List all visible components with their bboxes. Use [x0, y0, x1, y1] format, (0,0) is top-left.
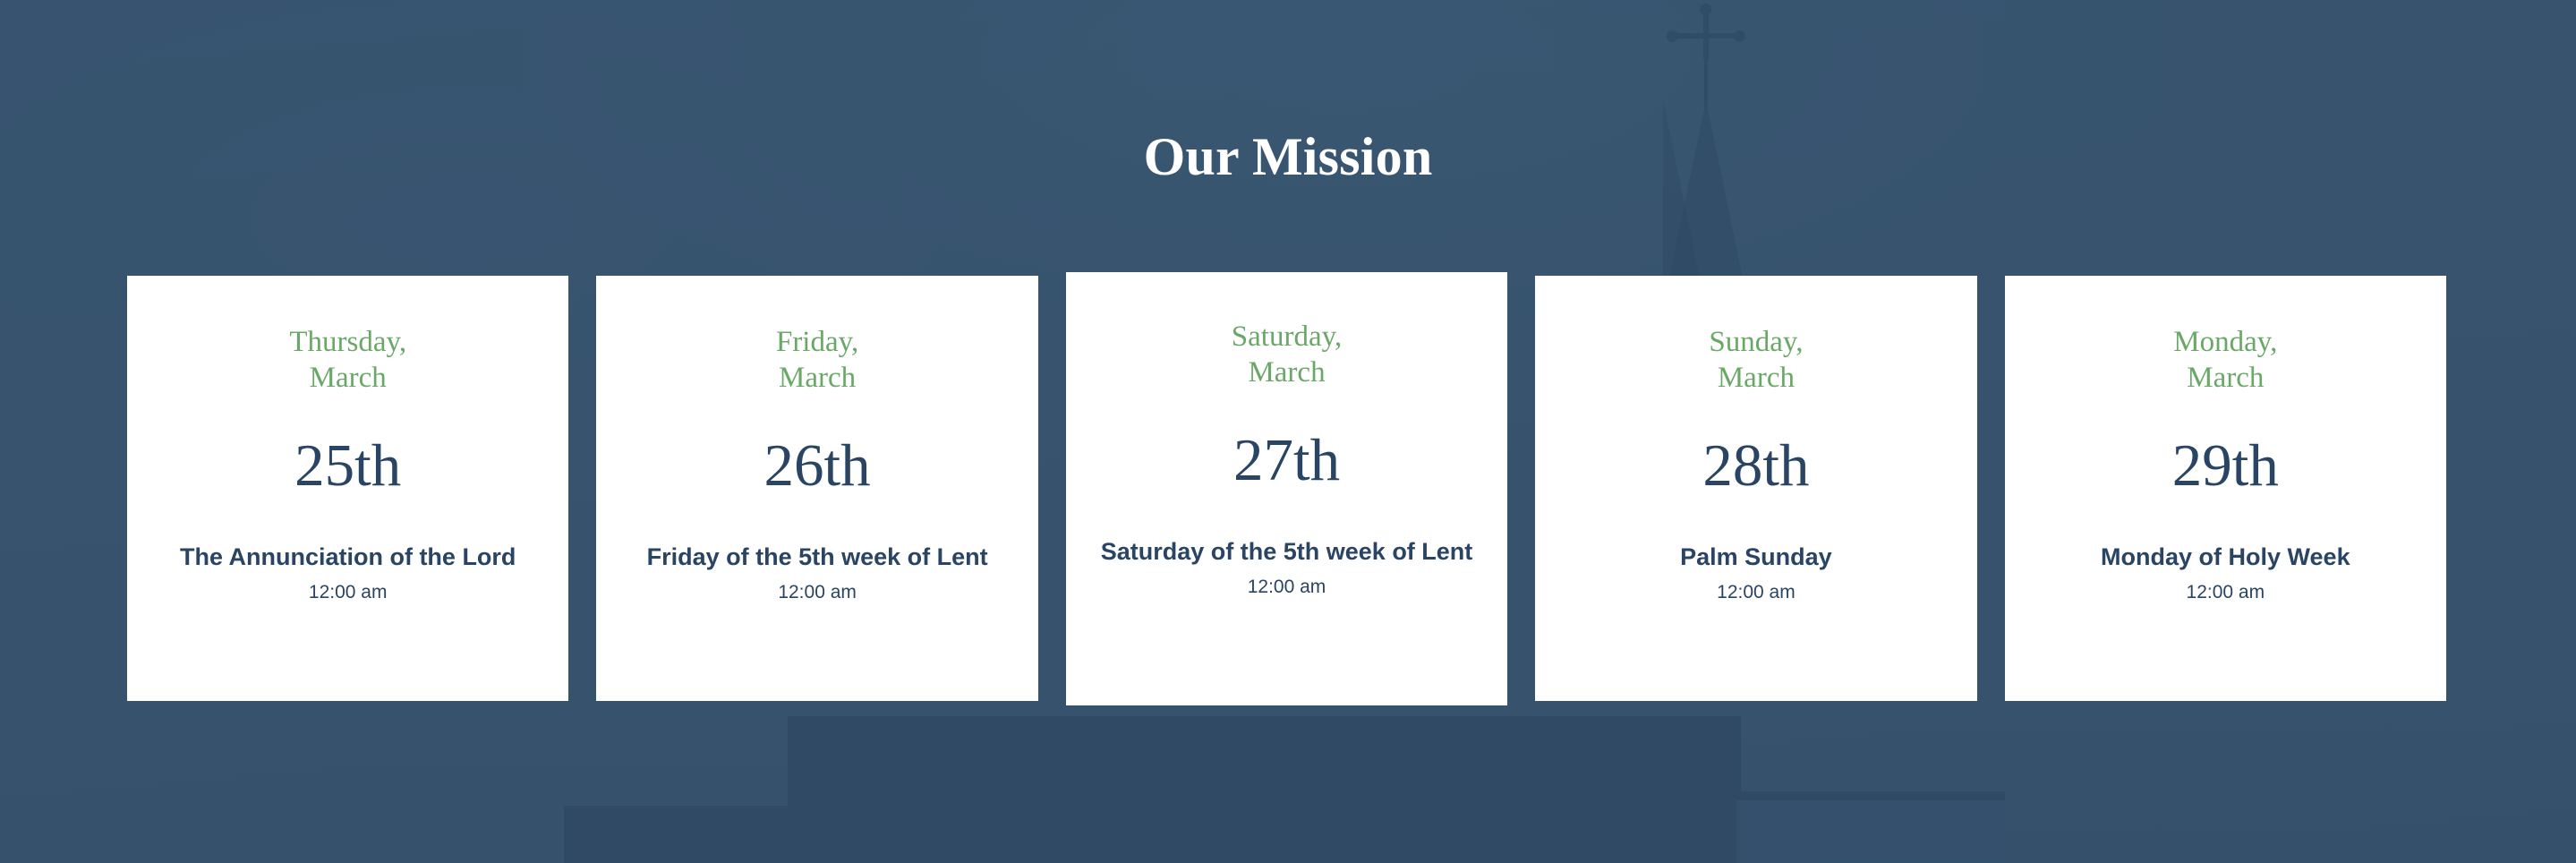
event-dateline: Saturday, March: [1089, 319, 1484, 391]
event-title: Monday of Holy Week: [2028, 542, 2423, 573]
event-weekday: Friday,: [776, 326, 858, 358]
event-title: Friday of the 5th week of Lent: [619, 542, 1014, 573]
event-month: March: [1248, 356, 1325, 389]
event-dateline: Friday, March: [619, 324, 1014, 397]
event-title: Saturday of the 5th week of Lent: [1089, 536, 1484, 568]
event-month: March: [779, 362, 856, 394]
event-time: 12:00 am: [1558, 580, 1953, 604]
event-month: March: [1718, 362, 1795, 394]
event-dateline: Sunday, March: [1558, 324, 1953, 397]
event-day-number: 28th: [1558, 434, 1953, 497]
event-card[interactable]: Monday, March 29th Monday of Holy Week 1…: [2005, 276, 2446, 701]
page-title: Our Mission: [0, 127, 2576, 186]
event-month: March: [310, 362, 387, 394]
events-list: Thursday, March 25th The Annunciation of…: [127, 276, 2446, 705]
event-card[interactable]: Sunday, March 28th Palm Sunday 12:00 am: [1535, 276, 1976, 701]
event-title: Palm Sunday: [1558, 542, 1953, 573]
event-dateline: Thursday, March: [150, 324, 545, 397]
event-weekday: Thursday,: [289, 326, 406, 358]
event-card[interactable]: Saturday, March 27th Saturday of the 5th…: [1066, 272, 1507, 705]
event-day-number: 25th: [150, 434, 545, 497]
event-day-number: 29th: [2028, 434, 2423, 497]
event-weekday: Saturday,: [1232, 320, 1342, 353]
event-time: 12:00 am: [1089, 575, 1484, 599]
event-day-number: 27th: [1089, 429, 1484, 491]
event-weekday: Monday,: [2173, 326, 2277, 358]
event-card[interactable]: Friday, March 26th Friday of the 5th wee…: [596, 276, 1037, 701]
page-content: Our Mission Thursday, March 25th The Ann…: [0, 0, 2576, 863]
event-weekday: Sunday,: [1709, 326, 1803, 358]
event-title: The Annunciation of the Lord: [150, 542, 545, 573]
event-card[interactable]: Thursday, March 25th The Annunciation of…: [127, 276, 568, 701]
event-dateline: Monday, March: [2028, 324, 2423, 397]
event-day-number: 26th: [619, 434, 1014, 497]
event-time: 12:00 am: [150, 580, 545, 604]
event-month: March: [2187, 362, 2264, 394]
event-time: 12:00 am: [619, 580, 1014, 604]
event-time: 12:00 am: [2028, 580, 2423, 604]
